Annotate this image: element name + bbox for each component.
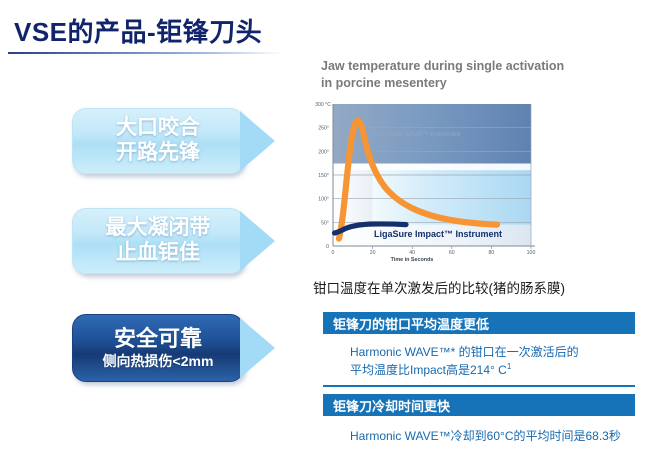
y-tick-100: 100° — [318, 197, 329, 203]
chart-annotation-ligasure: LigaSure Impact™ Instrument — [374, 229, 502, 239]
callout-3-line-1: 安全可靠 — [114, 326, 202, 352]
bullet-1-divider — [323, 385, 635, 387]
arrow-icon-1 — [240, 111, 275, 171]
bullet-1-heading-text: 钜锋刀的钳口平均温度更低 — [333, 314, 489, 333]
bullet-1-body-line-1: Harmonic WAVE™* 的钳口在一次激活后的 — [350, 345, 579, 359]
page-title: VSE的产品-钜锋刀头 — [14, 12, 262, 49]
bullet-2-heading-text: 钜锋刀冷却时间更快 — [333, 396, 450, 415]
bullet-2-body: Harmonic WAVE™冷却到60°C的平均时间是68.3秒 — [350, 428, 640, 445]
x-tick-80: 80 — [489, 250, 495, 256]
callout-box-3[interactable]: 安全可靠 侧向热损伤<2mm — [72, 314, 244, 382]
x-tick-100: 100 — [527, 250, 536, 256]
chart-title: Jaw temperature during single activation… — [321, 58, 611, 91]
chart-title-line-2: in porcine mesentery — [321, 76, 447, 90]
chart-x-tick-labels: 0 20 40 60 80 100 — [332, 250, 536, 256]
callout-2-line-1: 最大凝闭带 — [106, 216, 211, 241]
y-tick-150: 150° — [318, 173, 329, 179]
y-tick-250: 250° — [318, 126, 329, 132]
bullet-1-body: Harmonic WAVE™* 的钳口在一次激活后的 平均温度比Impact高是… — [350, 344, 640, 380]
y-tick-0: 0 — [326, 244, 329, 250]
x-tick-60: 60 — [449, 250, 455, 256]
bullet-2-body-line-1: Harmonic WAVE™冷却到60°C的平均时间是68.3秒 — [350, 429, 621, 443]
jaw-temperature-line-chart: 0 50° 100° 150° 200° 250° 300 °C 0 20 40… — [303, 100, 541, 268]
chart-band-left-fade — [333, 164, 373, 225]
chart-x-axis-label: Time in Seconds — [391, 257, 434, 263]
x-tick-40: 40 — [409, 250, 415, 256]
bullet-1-body-line-2: 平均温度比Impact高是214° C — [350, 363, 507, 377]
x-tick-0: 0 — [332, 250, 335, 256]
chart-caption: 钳口温度在单次激发后的比较(猪的肠系膜) — [313, 277, 565, 297]
chart-annotation-harmonic: Harmonic WAVE™ Instrument — [375, 131, 461, 138]
title-divider — [8, 52, 283, 54]
callout-1-line-1: 大口咬合 — [116, 116, 200, 141]
bullet-2-heading: 钜锋刀冷却时间更快 — [323, 394, 635, 416]
y-tick-200: 200° — [318, 149, 329, 155]
callout-box-2[interactable]: 最大凝闭带 止血钜佳 — [72, 208, 244, 274]
callout-1-line-2: 开路先锋 — [116, 141, 200, 166]
chart-container: Jaw temperature during single activation… — [303, 58, 541, 268]
bullet-1-heading: 钜锋刀的钳口平均温度更低 — [323, 312, 635, 334]
chart-y-tick-labels: 0 50° 100° 150° 200° 250° 300 °C — [315, 102, 331, 250]
chart-title-line-1: Jaw temperature during single activation — [321, 59, 564, 73]
callout-box-1[interactable]: 大口咬合 开路先锋 — [72, 108, 244, 174]
chart-band-white — [333, 164, 531, 171]
y-tick-300: 300 °C — [315, 102, 331, 108]
callout-2-line-2: 止血钜佳 — [116, 241, 200, 266]
y-tick-50: 50° — [321, 220, 329, 226]
bullet-1-body-superscript: 1 — [507, 362, 511, 371]
arrow-icon-2 — [240, 211, 275, 271]
x-tick-20: 20 — [370, 250, 376, 256]
callout-3-line-2: 侧向热损伤<2mm — [103, 353, 214, 370]
arrow-icon-3 — [240, 318, 275, 378]
